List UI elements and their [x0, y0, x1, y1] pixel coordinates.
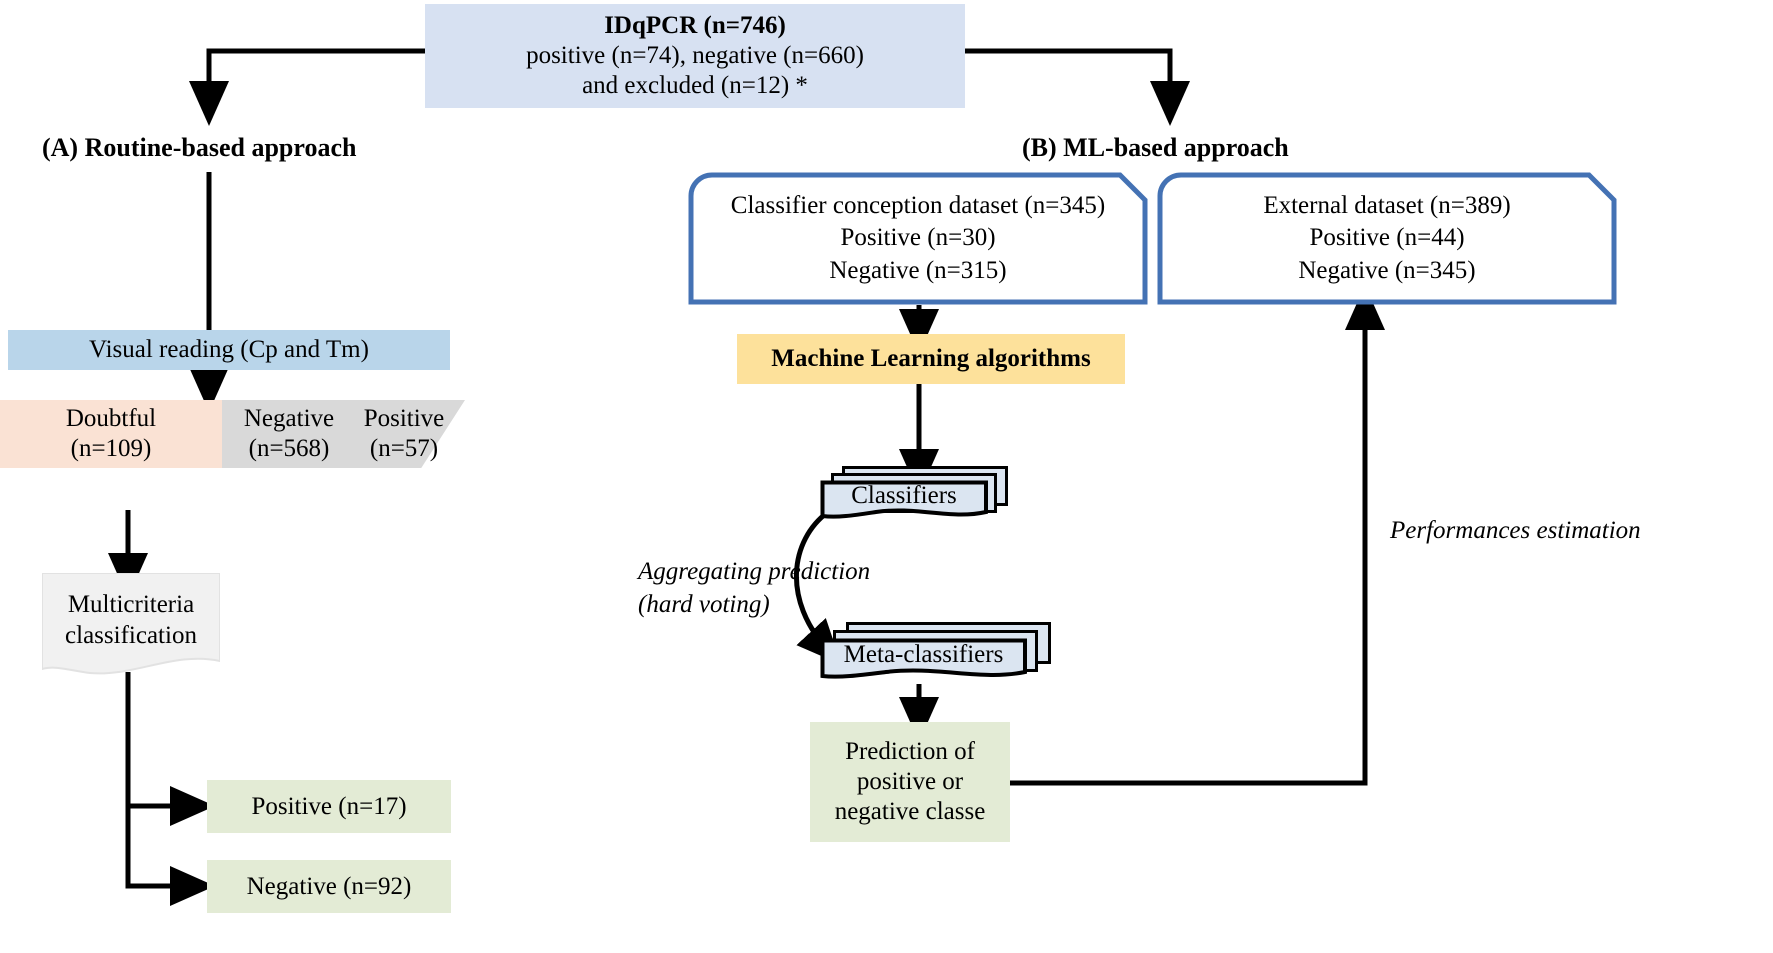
- routine-result-positive-box: Positive (n=17): [207, 780, 451, 833]
- meta-classifiers-label: Meta-classifiers: [844, 641, 1004, 669]
- external-dataset-line-1: External dataset (n=389): [1263, 190, 1510, 223]
- conception-dataset-line-2: Positive (n=30): [840, 222, 995, 255]
- idqpcr-line-2: positive (n=74), negative (n=660): [526, 41, 864, 71]
- segment-negative-count: (n=568): [249, 434, 330, 465]
- segment-positive-label: Positive: [364, 404, 445, 435]
- multicriteria-line-2: classification: [65, 620, 197, 651]
- prediction-class-box: Prediction of positive or negative class…: [810, 722, 1010, 842]
- multicriteria-line-1: Multicriteria: [68, 589, 194, 620]
- external-dataset-line-3: Negative (n=345): [1298, 255, 1475, 288]
- segment-negative: Negative (n=568): [224, 400, 354, 468]
- multicriteria-classification-box: Multicriteria classification: [42, 573, 220, 681]
- aggregating-prediction-annotation: Aggregating prediction (hard voting): [638, 556, 918, 621]
- idqpcr-line-1: IDqPCR (n=746): [604, 11, 786, 41]
- visual-reading-box: Visual reading (Cp and Tm): [8, 330, 450, 370]
- conception-dataset-box: Classifier conception dataset (n=345) Po…: [688, 172, 1148, 305]
- performances-estimation-annotation: Performances estimation: [1390, 515, 1710, 548]
- idqpcr-summary-box: IDqPCR (n=746) positive (n=74), negative…: [425, 4, 965, 108]
- conception-dataset-line-3: Negative (n=315): [829, 255, 1006, 288]
- meta-classifiers-stack: Meta-classifiers: [820, 622, 1070, 682]
- external-dataset-line-2: Positive (n=44): [1309, 222, 1464, 255]
- prediction-line-3: negative classe: [835, 797, 986, 827]
- branch-a-heading: (A) Routine-based approach: [42, 133, 442, 164]
- routine-result-negative-box: Negative (n=92): [207, 860, 451, 913]
- external-dataset-box: External dataset (n=389) Positive (n=44)…: [1157, 172, 1617, 305]
- branch-b-heading: (B) ML-based approach: [1022, 133, 1422, 164]
- conception-dataset-line-1: Classifier conception dataset (n=345): [731, 190, 1105, 223]
- aggregating-line-2: (hard voting): [638, 589, 918, 622]
- segment-positive: Positive (n=57): [352, 400, 456, 468]
- ml-algorithms-box: Machine Learning algorithms: [737, 334, 1125, 384]
- segment-doubtful-count: (n=109): [71, 434, 152, 465]
- flowchart-canvas: IDqPCR (n=746) positive (n=74), negative…: [0, 0, 1773, 953]
- aggregating-line-1: Aggregating prediction: [638, 556, 918, 589]
- segment-doubtful: Doubtful (n=109): [0, 400, 222, 468]
- visual-reading-results-banner: Doubtful (n=109) Negative (n=568) Positi…: [0, 400, 465, 468]
- classifiers-stack: Classifiers: [820, 466, 1010, 521]
- segment-negative-label: Negative: [244, 404, 334, 435]
- prediction-line-2: positive or: [857, 767, 963, 797]
- segment-positive-count: (n=57): [370, 434, 438, 465]
- idqpcr-line-3: and excluded (n=12) *: [582, 71, 808, 101]
- prediction-line-1: Prediction of: [845, 737, 975, 767]
- classifiers-label: Classifiers: [851, 482, 957, 510]
- segment-doubtful-label: Doubtful: [66, 404, 156, 435]
